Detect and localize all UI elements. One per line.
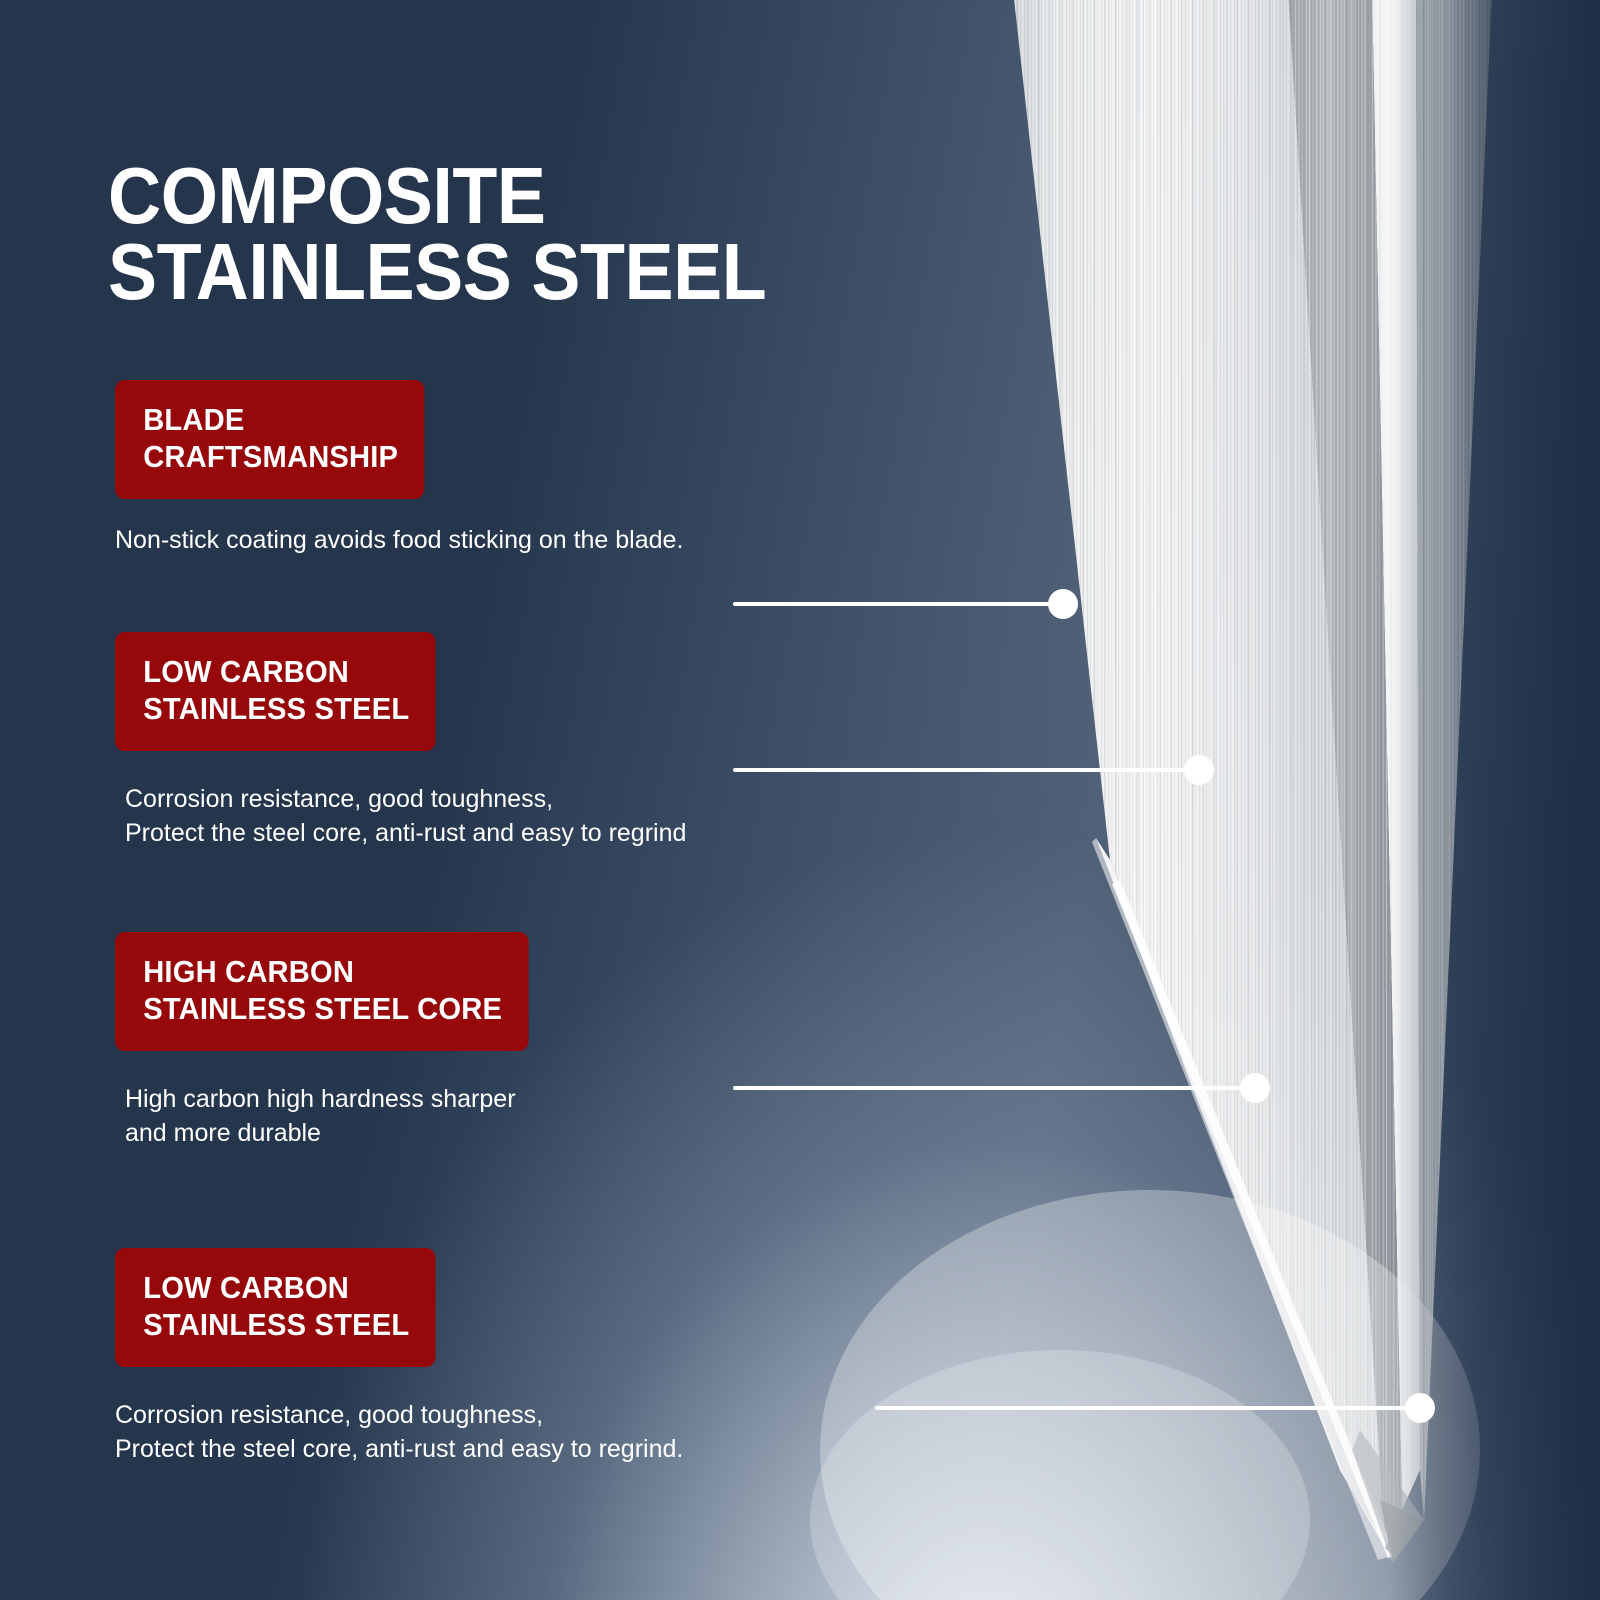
callout-leader-line-1 bbox=[733, 602, 1063, 606]
background-right-fade bbox=[1390, 0, 1600, 1600]
page-title-line-1: COMPOSITE bbox=[108, 151, 546, 240]
feature-description: Non-stick coating avoids food sticking o… bbox=[115, 524, 875, 558]
feature-block-blade-craftsmanship: BLADE CRAFTSMANSHIP Non-stick coating av… bbox=[115, 380, 875, 558]
feature-description: High carbon high hardness sharper and mo… bbox=[125, 1083, 875, 1150]
callout-endpoint-dot-4 bbox=[1405, 1393, 1435, 1423]
callout-endpoint-dot-3 bbox=[1240, 1073, 1270, 1103]
feature-badge: HIGH CARBON STAINLESS STEEL CORE bbox=[115, 932, 528, 1051]
feature-block-low-carbon-stainless-steel-top: LOW CARBON STAINLESS STEEL Corrosion res… bbox=[115, 632, 875, 850]
callout-endpoint-dot-2 bbox=[1184, 755, 1214, 785]
feature-block-high-carbon-stainless-steel-core: HIGH CARBON STAINLESS STEEL CORE High ca… bbox=[115, 932, 875, 1150]
page-title: COMPOSITE STAINLESS STEEL bbox=[108, 158, 918, 312]
feature-description: Corrosion resistance, good toughness, Pr… bbox=[125, 783, 875, 850]
callout-leader-line-3 bbox=[733, 1086, 1255, 1090]
feature-block-low-carbon-stainless-steel-bottom: LOW CARBON STAINLESS STEEL Corrosion res… bbox=[115, 1248, 875, 1466]
callout-leader-line-4 bbox=[875, 1406, 1420, 1410]
feature-badge: LOW CARBON STAINLESS STEEL bbox=[115, 632, 436, 751]
feature-description: Corrosion resistance, good toughness, Pr… bbox=[115, 1399, 875, 1466]
infographic-page: COMPOSITE STAINLESS STEEL BLADE CRAFTSMA… bbox=[0, 0, 1600, 1600]
page-title-line-2: STAINLESS STEEL bbox=[108, 234, 918, 311]
callout-leader-line-2 bbox=[733, 768, 1199, 772]
callout-endpoint-dot-1 bbox=[1048, 589, 1078, 619]
feature-badge: LOW CARBON STAINLESS STEEL bbox=[115, 1248, 436, 1367]
feature-badge: BLADE CRAFTSMANSHIP bbox=[115, 380, 425, 499]
